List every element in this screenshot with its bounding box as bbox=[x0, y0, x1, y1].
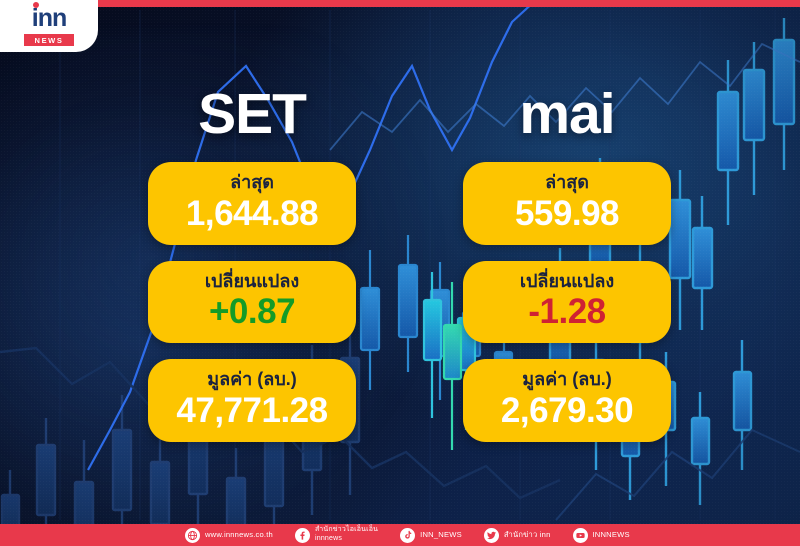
card-label: ล่าสุด bbox=[471, 171, 663, 194]
card-label: มูลค่า (ลบ.) bbox=[156, 368, 348, 391]
footer-label: www.innnews.co.th bbox=[205, 530, 273, 539]
logo-news-badge: NEWS bbox=[24, 34, 75, 47]
stock-index-graphic: inn NEWS SET ล่าสุด 1,644.88 เปลี่ยนแปลง… bbox=[0, 0, 800, 546]
footer-item-tiktok[interactable]: INN_NEWS bbox=[400, 528, 462, 543]
card-mai-change: เปลี่ยนแปลง -1.28 bbox=[463, 261, 671, 344]
footer-label: INN_NEWS bbox=[420, 530, 462, 539]
logo-text: inn bbox=[32, 4, 67, 32]
index-panel-set: SET ล่าสุด 1,644.88 เปลี่ยนแปลง +0.87 มู… bbox=[148, 86, 356, 458]
logo-dot-icon bbox=[33, 2, 39, 8]
card-value: 2,679.30 bbox=[471, 391, 663, 430]
card-value: +0.87 bbox=[156, 292, 348, 331]
social-footer-bar: www.innnews.co.th สำนักข่าวไอเอ็นเอ็นinn… bbox=[0, 524, 800, 546]
background-vignette bbox=[0, 0, 800, 546]
card-mai-last: ล่าสุด 559.98 bbox=[463, 162, 671, 245]
card-value: -1.28 bbox=[471, 292, 663, 331]
footer-item-twitter[interactable]: สำนักข่าว inn bbox=[484, 528, 551, 543]
youtube-icon bbox=[573, 528, 588, 543]
footer-label-line2: innnews bbox=[315, 535, 342, 542]
card-set-change: เปลี่ยนแปลง +0.87 bbox=[148, 261, 356, 344]
card-value: 559.98 bbox=[471, 194, 663, 233]
footer-item-facebook[interactable]: สำนักข่าวไอเอ็นเอ็นinnnews bbox=[295, 526, 378, 543]
card-value: 1,644.88 bbox=[156, 194, 348, 233]
card-label: เปลี่ยนแปลง bbox=[156, 270, 348, 293]
tiktok-icon bbox=[400, 528, 415, 543]
card-label: มูลค่า (ลบ.) bbox=[471, 368, 663, 391]
index-title-set: SET bbox=[148, 86, 356, 162]
top-accent-bar bbox=[0, 0, 800, 7]
footer-label: สำนักข่าว inn bbox=[504, 530, 551, 539]
footer-item-website[interactable]: www.innnews.co.th bbox=[185, 528, 273, 543]
card-label: ล่าสุด bbox=[156, 171, 348, 194]
card-value: 47,771.28 bbox=[156, 391, 348, 430]
card-set-value: มูลค่า (ลบ.) 47,771.28 bbox=[148, 359, 356, 442]
card-set-last: ล่าสุด 1,644.88 bbox=[148, 162, 356, 245]
inn-news-logo: inn NEWS bbox=[0, 0, 98, 52]
footer-label: INNNEWS bbox=[593, 530, 630, 539]
twitter-icon bbox=[484, 528, 499, 543]
card-label: เปลี่ยนแปลง bbox=[471, 270, 663, 293]
footer-label: สำนักข่าวไอเอ็นเอ็นinnnews bbox=[315, 526, 378, 543]
footer-label-line1: สำนักข่าวไอเอ็นเอ็น bbox=[315, 526, 378, 533]
index-title-mai: mai bbox=[463, 86, 671, 162]
card-mai-value: มูลค่า (ลบ.) 2,679.30 bbox=[463, 359, 671, 442]
index-panel-mai: mai ล่าสุด 559.98 เปลี่ยนแปลง -1.28 มูลค… bbox=[463, 86, 671, 458]
globe-icon bbox=[185, 528, 200, 543]
footer-item-youtube[interactable]: INNNEWS bbox=[573, 528, 630, 543]
facebook-icon bbox=[295, 528, 310, 543]
logo-wordmark: inn bbox=[32, 6, 67, 31]
